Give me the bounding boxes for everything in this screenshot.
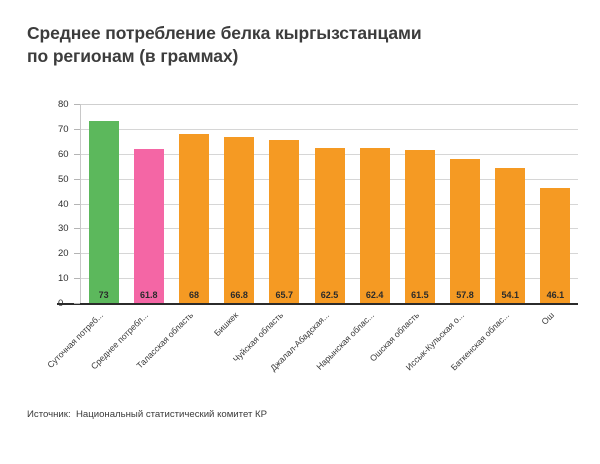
bar-value-label: 46.1 — [532, 291, 578, 300]
y-axis-tick — [74, 278, 80, 279]
y-axis-label: 40 — [58, 194, 74, 212]
y-axis-label-text: 10 — [58, 273, 69, 284]
bar[interactable] — [89, 121, 119, 303]
y-axis-label: 20 — [58, 243, 74, 261]
x-axis-line — [57, 303, 578, 305]
y-axis-tick — [74, 154, 80, 155]
bar[interactable] — [540, 188, 570, 303]
bar[interactable] — [269, 140, 299, 303]
y-axis-tick — [74, 204, 80, 205]
y-axis-tick — [74, 228, 80, 229]
y-axis-label-text: 60 — [58, 149, 69, 160]
y-axis-label: 50 — [58, 169, 74, 187]
y-axis-tick — [74, 104, 80, 105]
y-axis-label: 80 — [58, 94, 74, 112]
y-axis-label-text: 50 — [58, 174, 69, 185]
y-axis-label: 0 — [58, 293, 74, 311]
y-axis-label-text: 70 — [58, 124, 69, 135]
y-axis-label-text: 80 — [58, 99, 69, 110]
gridline — [81, 104, 578, 105]
x-axis-label-text: Ош — [540, 310, 557, 327]
y-axis-tick — [74, 303, 80, 304]
source-note: Источник: Национальный статистический ко… — [27, 409, 267, 420]
y-axis-label-text: 40 — [58, 199, 69, 210]
y-axis-tick — [74, 129, 80, 130]
y-axis-line — [80, 104, 81, 304]
y-axis-label: 10 — [58, 268, 74, 286]
y-axis-tick — [74, 253, 80, 254]
bar-chart: 7361.86866.865.762.562.461.557.854.146.1… — [0, 0, 600, 464]
y-axis-label-text: 0 — [58, 298, 63, 309]
y-axis-tick — [74, 179, 80, 180]
x-axis-label-text: Бишкек — [212, 310, 240, 338]
y-axis-label-text: 30 — [58, 223, 69, 234]
y-axis-label: 60 — [58, 144, 74, 162]
gridline — [81, 129, 578, 130]
y-axis-label: 30 — [58, 218, 74, 236]
y-axis-label: 70 — [58, 119, 74, 137]
y-axis-label-text: 20 — [58, 248, 69, 259]
